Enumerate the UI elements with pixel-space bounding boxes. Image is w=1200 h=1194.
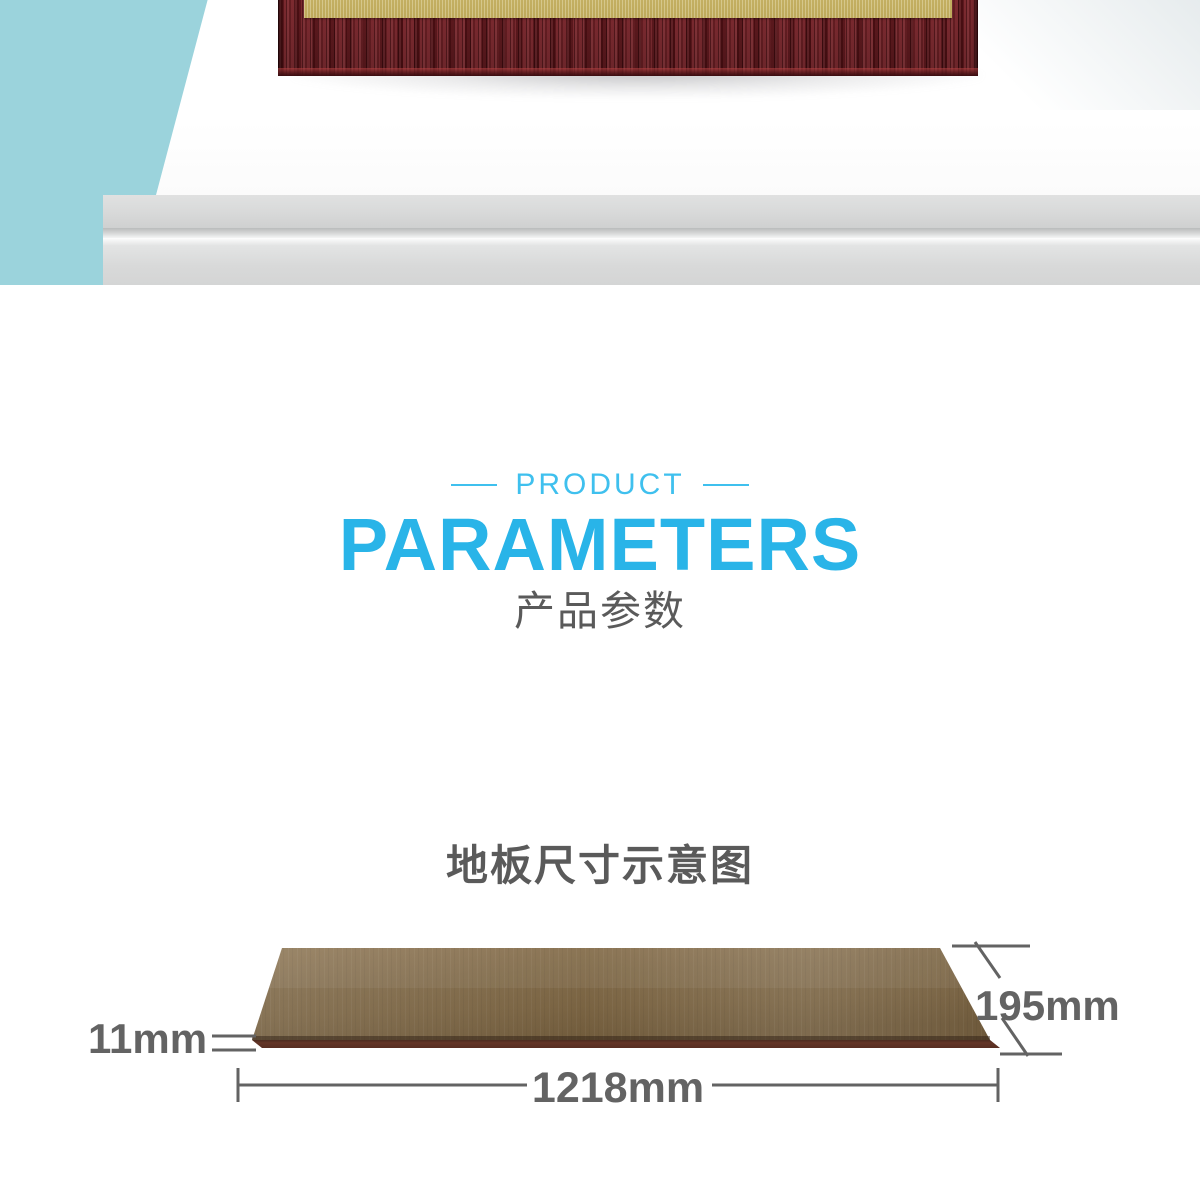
plaque-gold-plate (304, 0, 952, 18)
dash-right-icon (703, 484, 749, 486)
header-eyebrow: PRODUCT (0, 468, 1200, 502)
width-label: 195mm (975, 982, 1120, 1029)
plank-front-lip (252, 1036, 990, 1040)
table-groove-line (103, 228, 1200, 238)
hero-photo (0, 0, 1200, 285)
plank-side-shadow (252, 1040, 1000, 1048)
floor-plank-diagram: 11mm 195mm 1218mm (0, 930, 1200, 1120)
product-parameters-page: PRODUCT PARAMETERS 产品参数 地板尺寸示意图 (0, 0, 1200, 1194)
table-front-panel (103, 238, 1200, 285)
header-title: PARAMETERS (0, 506, 1200, 584)
length-label: 1218mm (532, 1064, 704, 1112)
thickness-label: 11mm (88, 1015, 207, 1062)
header-eyebrow-text: PRODUCT (515, 468, 684, 502)
section-header: PRODUCT PARAMETERS 产品参数 (0, 468, 1200, 637)
table-edge-band (103, 195, 1200, 228)
diagram-title: 地板尺寸示意图 (0, 832, 1200, 893)
plank-top-gloss (266, 948, 962, 988)
dash-left-icon (451, 484, 497, 486)
award-plaque (278, 0, 978, 76)
dimension-thickness (212, 1036, 256, 1050)
plaque-bottom-bevel (278, 68, 978, 76)
header-subtitle: 产品参数 (0, 586, 1200, 637)
